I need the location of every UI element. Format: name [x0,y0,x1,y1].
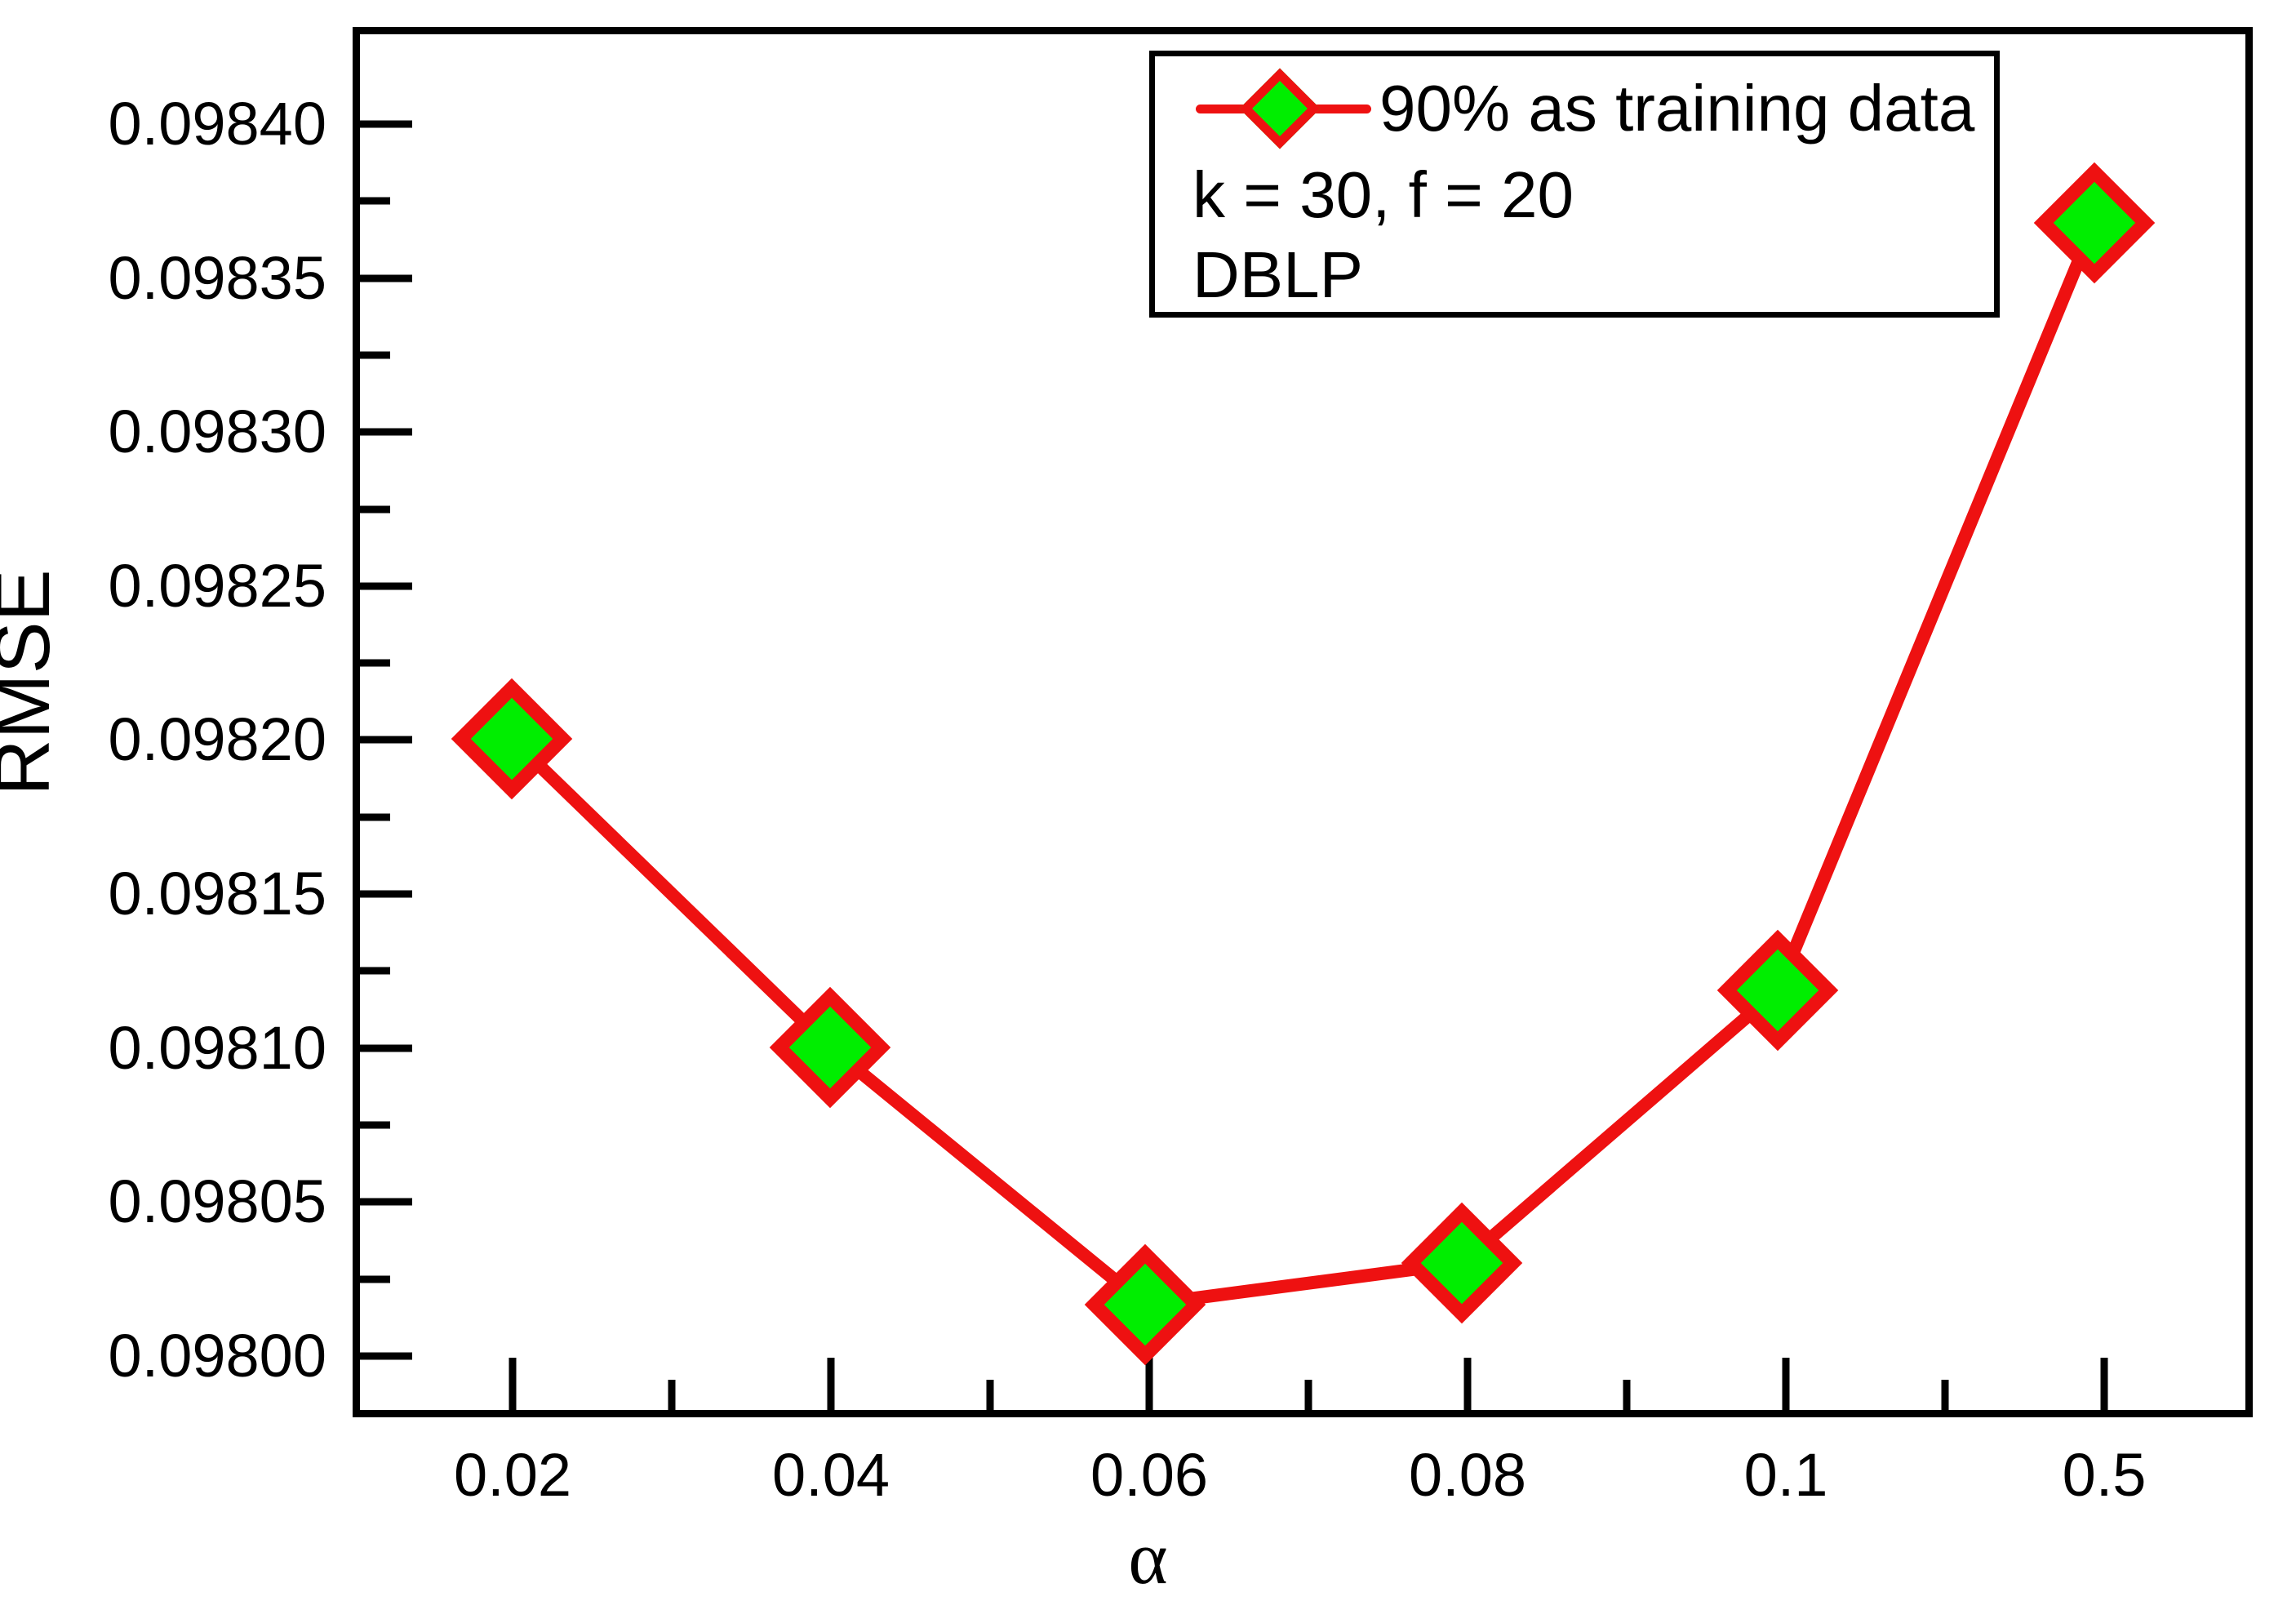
legend-line-sample [1196,64,1371,153]
x-tick-label: 0.5 [2063,1445,2147,1505]
y-tick-label: 0.09815 [109,864,327,924]
legend-series-label: 90% as training data [1379,74,1974,143]
y-tick-label: 0.09805 [109,1172,327,1232]
y-tick-label: 0.09800 [109,1326,327,1386]
chart-figure: 0.09840 0.09835 0.09830 0.09825 0.09820 … [0,0,2296,1601]
y-tick-label: 0.09820 [109,709,327,770]
legend-note-dataset: DBLP [1192,241,1363,309]
x-axis-title: α [0,1520,2296,1595]
y-tick-label: 0.09835 [109,248,327,309]
x-tick-label: 0.1 [1744,1445,1828,1505]
y-tick-label: 0.09810 [109,1018,327,1078]
y-tick-label: 0.09840 [109,94,327,154]
y-axis-tick-labels: 0.09840 0.09835 0.09830 0.09825 0.09820 … [33,0,326,1601]
legend-entry-series: 90% as training data [1155,61,1994,156]
x-tick-label: 0.02 [454,1445,571,1505]
x-tick-label: 0.08 [1409,1445,1526,1505]
x-tick-label: 0.06 [1090,1445,1208,1505]
y-tick-label: 0.09825 [109,556,327,616]
y-axis-title: RMSE [0,487,62,878]
y-tick-label: 0.09830 [109,402,327,462]
diamond-marker-icon [1240,69,1321,149]
legend-note-parameters: k = 30, f = 20 [1192,161,1574,229]
x-tick-label: 0.04 [772,1445,890,1505]
legend-box: 90% as training data k = 30, f = 20 DBLP [1149,51,2000,318]
